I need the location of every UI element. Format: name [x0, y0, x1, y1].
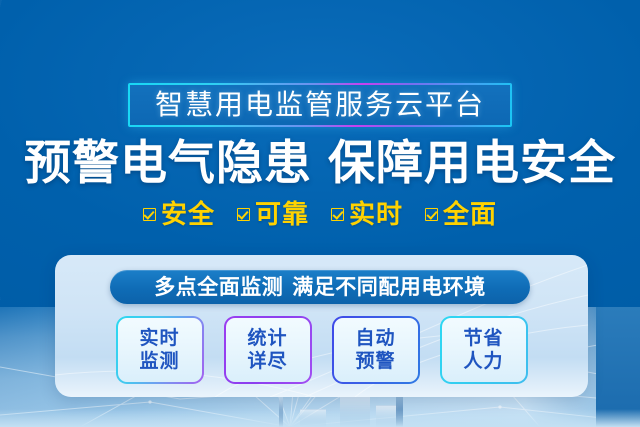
feature-card-line-1: 节省 [463, 328, 503, 350]
feature-card-line-1: 实时 [139, 328, 179, 350]
headline-part-2: 保障用电安全 [328, 136, 616, 189]
feature-card-list: 实时 监测 统计 详尽 自动 预警 节省 人力 [55, 313, 588, 387]
feature-card-line-2: 预警 [355, 351, 395, 373]
checkbox-check-icon [331, 208, 344, 221]
platform-title-chip: 智慧用电监管服务云平台 [128, 83, 512, 127]
checklist-item-label: 可靠 [255, 201, 309, 227]
checkbox-check-icon [425, 208, 438, 221]
headline-part-1: 预警电气隐患 [24, 136, 312, 189]
panel-headline-text: 多点全面监测满足不同配用电环境 [154, 277, 486, 298]
feature-card-line-2: 详尽 [247, 351, 287, 373]
checklist-item: 可靠 [237, 201, 309, 227]
checklist-item-label: 安全 [161, 201, 215, 227]
feature-card-line-2: 监测 [139, 351, 179, 373]
feature-card-auto-alarm[interactable]: 自动 预警 [332, 316, 420, 384]
feature-checklist: 安全 可靠 实时 全面 [0, 197, 640, 231]
feature-card-line-1: 统计 [247, 328, 287, 350]
feature-card-inner: 节省 人力 [442, 318, 526, 382]
page-title: 预警电气隐患保障用电安全 [0, 136, 640, 190]
checkbox-check-icon [237, 208, 250, 221]
pill-part-2: 满足不同配用电环境 [292, 276, 486, 299]
pill-part-1: 多点全面监测 [154, 276, 283, 299]
feature-card-line-1: 自动 [355, 328, 395, 350]
photo-bottom-fade [0, 409, 640, 427]
poster-canvas: 智慧用电监管服务云平台 预警电气隐患保障用电安全 安全 可靠 实时 全面 [0, 0, 640, 427]
panel-headline-pill: 多点全面监测满足不同配用电环境 [110, 270, 530, 304]
feature-card-inner: 自动 预警 [334, 318, 418, 382]
feature-card-detailed-statistics[interactable]: 统计 详尽 [224, 316, 312, 384]
checkbox-check-icon [143, 208, 156, 221]
feature-card-realtime-monitoring[interactable]: 实时 监测 [116, 316, 204, 384]
checklist-item-label: 实时 [349, 201, 403, 227]
feature-card-inner: 统计 详尽 [226, 318, 310, 382]
checklist-item: 实时 [331, 201, 403, 227]
feature-card-line-2: 人力 [463, 351, 503, 373]
platform-title-chip-inner: 智慧用电监管服务云平台 [130, 85, 510, 125]
feature-card-save-manpower[interactable]: 节省 人力 [440, 316, 528, 384]
feature-card-inner: 实时 监测 [118, 318, 202, 382]
checklist-item: 安全 [143, 201, 215, 227]
platform-title-text: 智慧用电监管服务云平台 [155, 91, 485, 119]
checklist-item-label: 全面 [443, 201, 497, 227]
checklist-item: 全面 [425, 201, 497, 227]
